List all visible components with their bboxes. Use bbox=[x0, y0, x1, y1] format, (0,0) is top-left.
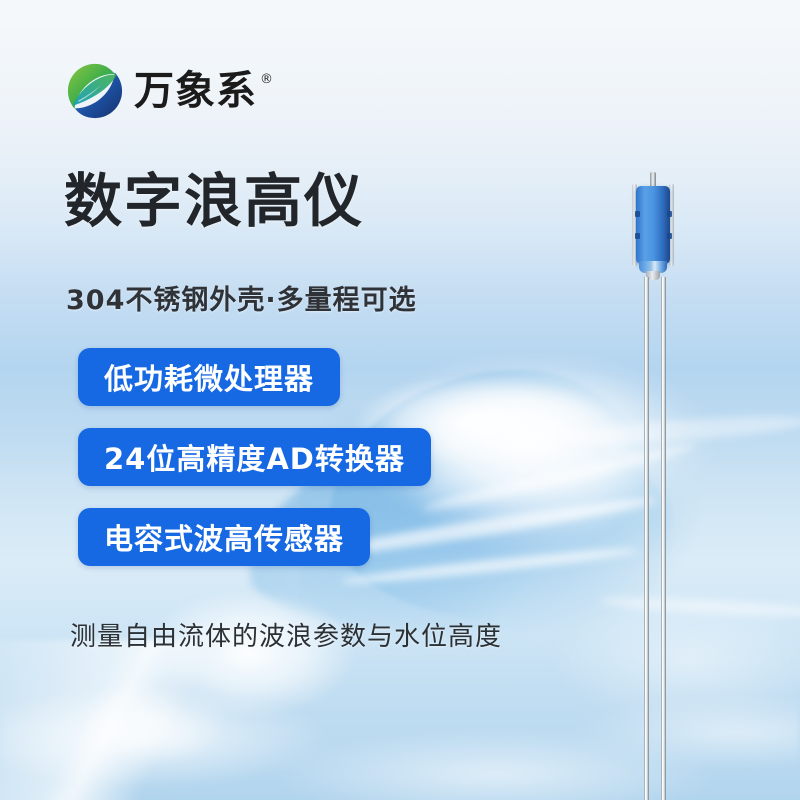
brand-name: 万象系 bbox=[134, 71, 257, 111]
globe-swoosh-logo-icon bbox=[66, 62, 124, 120]
feature-pill-capacitive-sensor: 电容式波高传感器 bbox=[78, 508, 370, 566]
sensor-body-mark bbox=[635, 233, 640, 239]
page-subtitle: 304不锈钢外壳·多量程可选 bbox=[66, 278, 417, 317]
probe-rod-highlight bbox=[645, 277, 646, 800]
tagline: 测量自由流体的波浪参数与水位高度 bbox=[70, 616, 502, 653]
probe-rod-highlight bbox=[662, 277, 663, 800]
registered-trademark-icon: ® bbox=[260, 72, 273, 87]
product-poster: 万象系 ® 数字浪高仪 304不锈钢外壳·多量程可选 低功耗微处理器 24位高精… bbox=[0, 0, 800, 800]
sensor-body-mark bbox=[667, 211, 672, 217]
sensor-body-mark bbox=[667, 233, 672, 239]
feature-pill-low-power-mcu: 低功耗微处理器 bbox=[78, 348, 340, 406]
sea-foam-left-edge bbox=[0, 640, 240, 800]
product-image-wave-height-sensor bbox=[614, 172, 704, 800]
sensor-body-mark bbox=[635, 211, 640, 217]
brand-logo: 万象系 ® bbox=[66, 62, 273, 120]
sensor-head-body bbox=[636, 186, 670, 264]
feature-pill-24bit-adc: 24位高精度AD转换器 bbox=[78, 428, 431, 486]
page-title: 数字浪高仪 bbox=[64, 170, 364, 233]
brand-wordmark: 万象系 ® bbox=[134, 71, 273, 111]
